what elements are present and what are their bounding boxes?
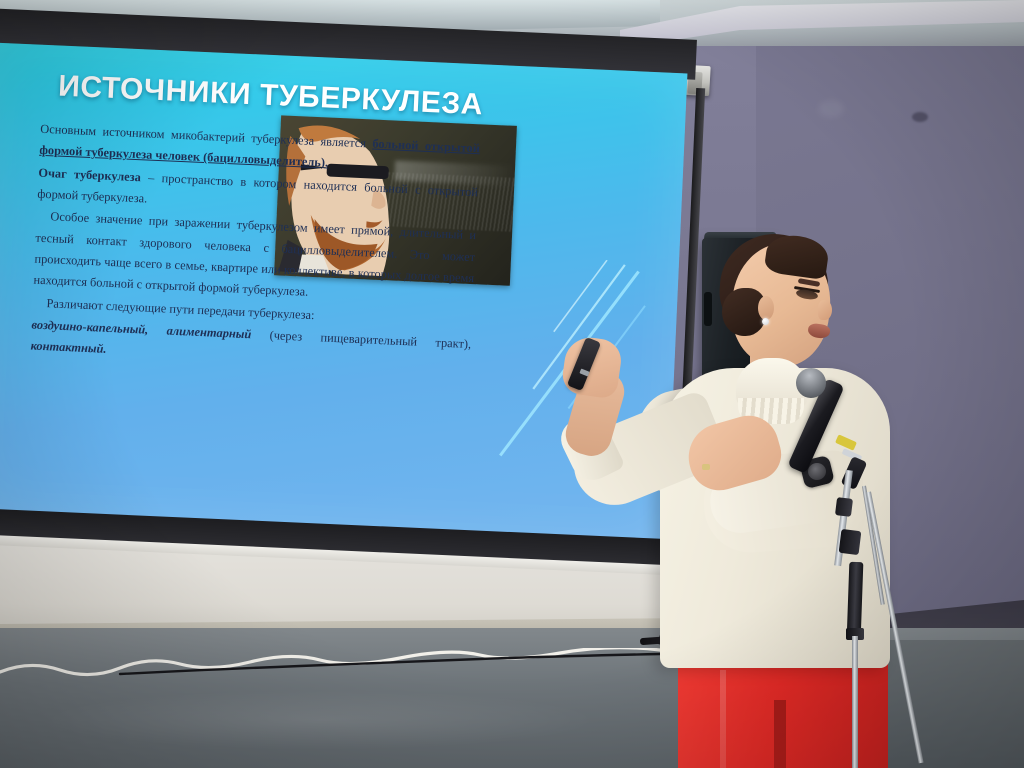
trouser-fold xyxy=(720,670,726,768)
earring xyxy=(762,318,769,325)
p2-lead: Очаг туберкулеза xyxy=(38,165,141,184)
mic-stand-collar-2[interactable] xyxy=(839,529,862,555)
presenter xyxy=(560,230,960,768)
floor-reflection xyxy=(40,690,600,750)
mic-stand-lower xyxy=(852,636,858,768)
wall-mark xyxy=(912,112,928,122)
p5-italic-b: контактный. xyxy=(30,339,106,356)
trouser-center-seam xyxy=(774,700,786,768)
presentation-room-photo: ИСТОЧНИКИ ТУБЕРКУЛЕЗА xyxy=(0,0,1024,768)
wall-smudge xyxy=(818,100,844,118)
finger-ring xyxy=(702,464,710,470)
mic-stand-collar-1[interactable] xyxy=(835,497,853,517)
slide-title: ИСТОЧНИКИ ТУБЕРКУЛЕЗА xyxy=(57,69,483,122)
wristwatch-face xyxy=(808,463,826,480)
presenter-ear xyxy=(758,296,774,320)
slide-body-text: Основным источником микобактерий туберку… xyxy=(30,119,480,378)
presenter-nose xyxy=(818,300,832,320)
